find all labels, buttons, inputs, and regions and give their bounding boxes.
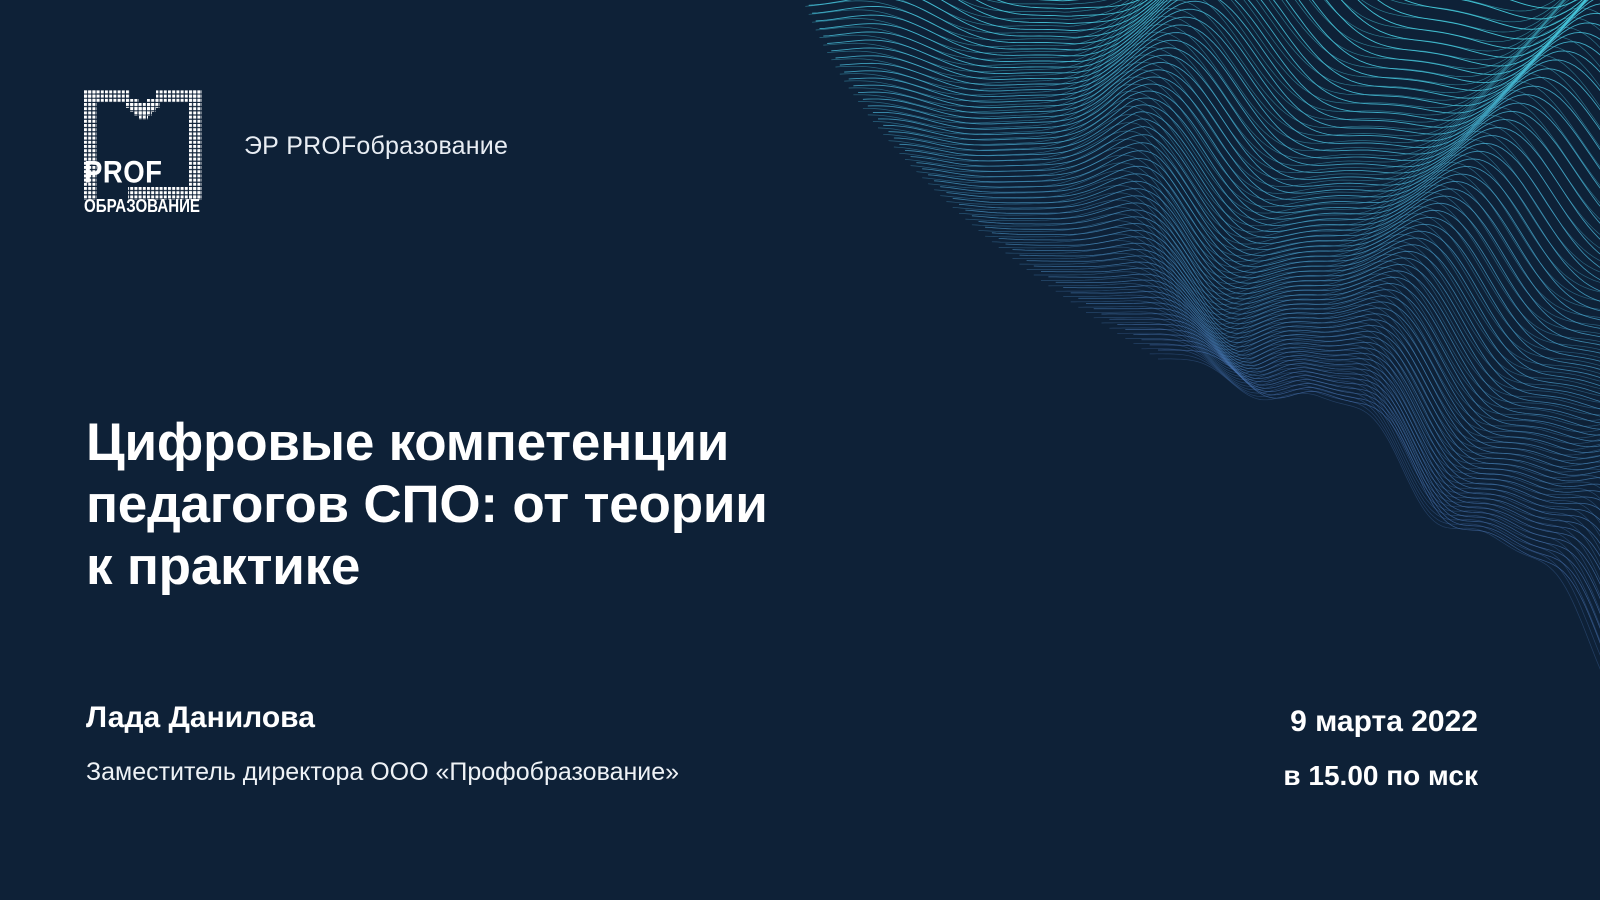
speaker-block: Лада Данилова Заместитель директора ООО …	[86, 698, 679, 788]
speaker-role: Заместитель директора ООО «Профобразован…	[86, 756, 679, 788]
slide-footer: Лада Данилова Заместитель директора ООО …	[86, 698, 1478, 794]
brand-name: ЭР PROFобразование	[244, 132, 508, 165]
event-time: в 15.00 по мск	[1283, 758, 1478, 794]
title-slide: PROF ОБРАЗОВАНИЕ ЭР PROFобразование Цифр…	[0, 0, 1600, 900]
logo-text-prof: PROF	[84, 154, 163, 189]
event-date: 9 марта 2022	[1283, 702, 1478, 742]
slide-title: Цифровые компетенции педагогов СПО: от т…	[86, 412, 876, 598]
logo-text-obrazovanie: ОБРАЗОВАНИЕ	[84, 196, 200, 214]
event-datetime-block: 9 марта 2022 в 15.00 по мск	[1283, 698, 1478, 794]
brand-lockup: PROF ОБРАЗОВАНИЕ ЭР PROFобразование	[84, 82, 508, 214]
wave-mesh-svg	[770, 0, 1600, 680]
speaker-name: Лада Данилова	[86, 698, 679, 738]
wireframe-wave-mesh	[770, 0, 1600, 680]
prof-obrazovanie-logo-icon: PROF ОБРАЗОВАНИЕ	[84, 82, 202, 214]
